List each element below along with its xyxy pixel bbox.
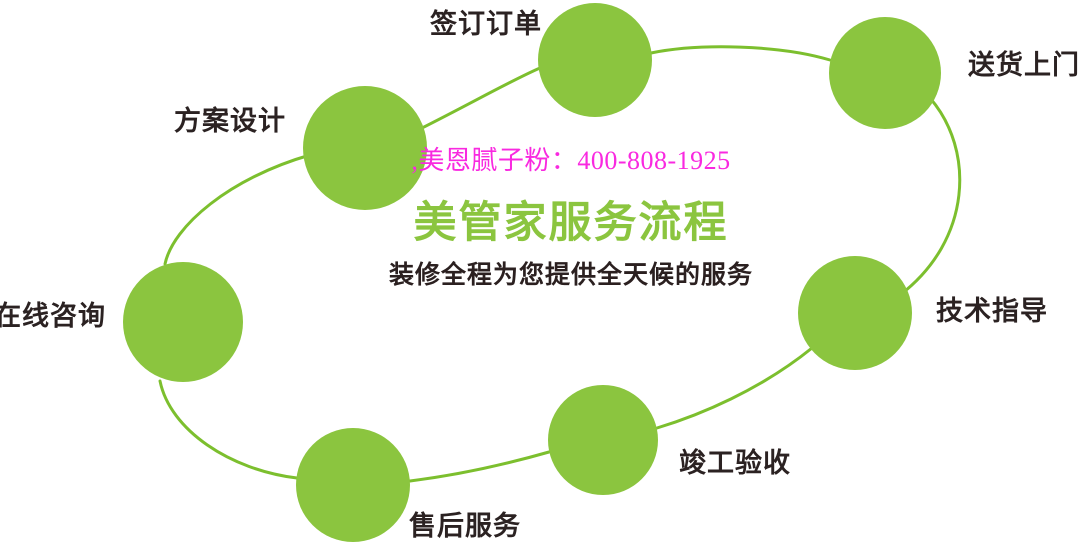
center-text-block: ,美恩腻子粉：400-808-1925 美管家服务流程 装修全程为您提供全天候的… [361, 146, 781, 288]
node-label-technical-guidance: 技术指导 [936, 298, 1048, 325]
page-title: 美管家服务流程 [361, 202, 781, 245]
node-label-after-sales-service: 售后服务 [409, 513, 521, 540]
node-label-home-delivery: 送货上门 [968, 52, 1080, 79]
connector-consultation-to-design [165, 155, 310, 264]
node-home-delivery[interactable] [829, 17, 941, 129]
connector-order-to-delivery [651, 47, 830, 60]
connector-technical-to-completion [657, 348, 812, 428]
connector-design-to-order [420, 68, 540, 129]
hotline-text: ,美恩腻子粉：400-808-1925 [361, 146, 781, 176]
node-label-online-consultation: 在线咨询 [0, 303, 106, 330]
node-label-completion-check: 竣工验收 [679, 450, 791, 477]
connector-aftersales-to-consultation [160, 381, 297, 478]
node-online-consultation[interactable] [123, 262, 243, 382]
node-completion-check[interactable] [548, 385, 658, 495]
node-sign-order[interactable] [538, 3, 652, 117]
connector-delivery-to-technical [900, 98, 960, 295]
connector-completion-to-aftersales [410, 452, 549, 481]
node-label-sign-order: 签订订单 [430, 11, 542, 38]
node-after-sales-service[interactable] [296, 428, 410, 542]
service-flow-diagram: 在线咨询 方案设计 签订订单 送货上门 技术指导 竣工验收 售后服务 ,美恩腻子… [0, 0, 1083, 553]
node-label-plan-design: 方案设计 [174, 108, 286, 135]
page-subtitle: 装修全程为您提供全天候的服务 [361, 263, 781, 288]
node-technical-guidance[interactable] [798, 256, 912, 370]
